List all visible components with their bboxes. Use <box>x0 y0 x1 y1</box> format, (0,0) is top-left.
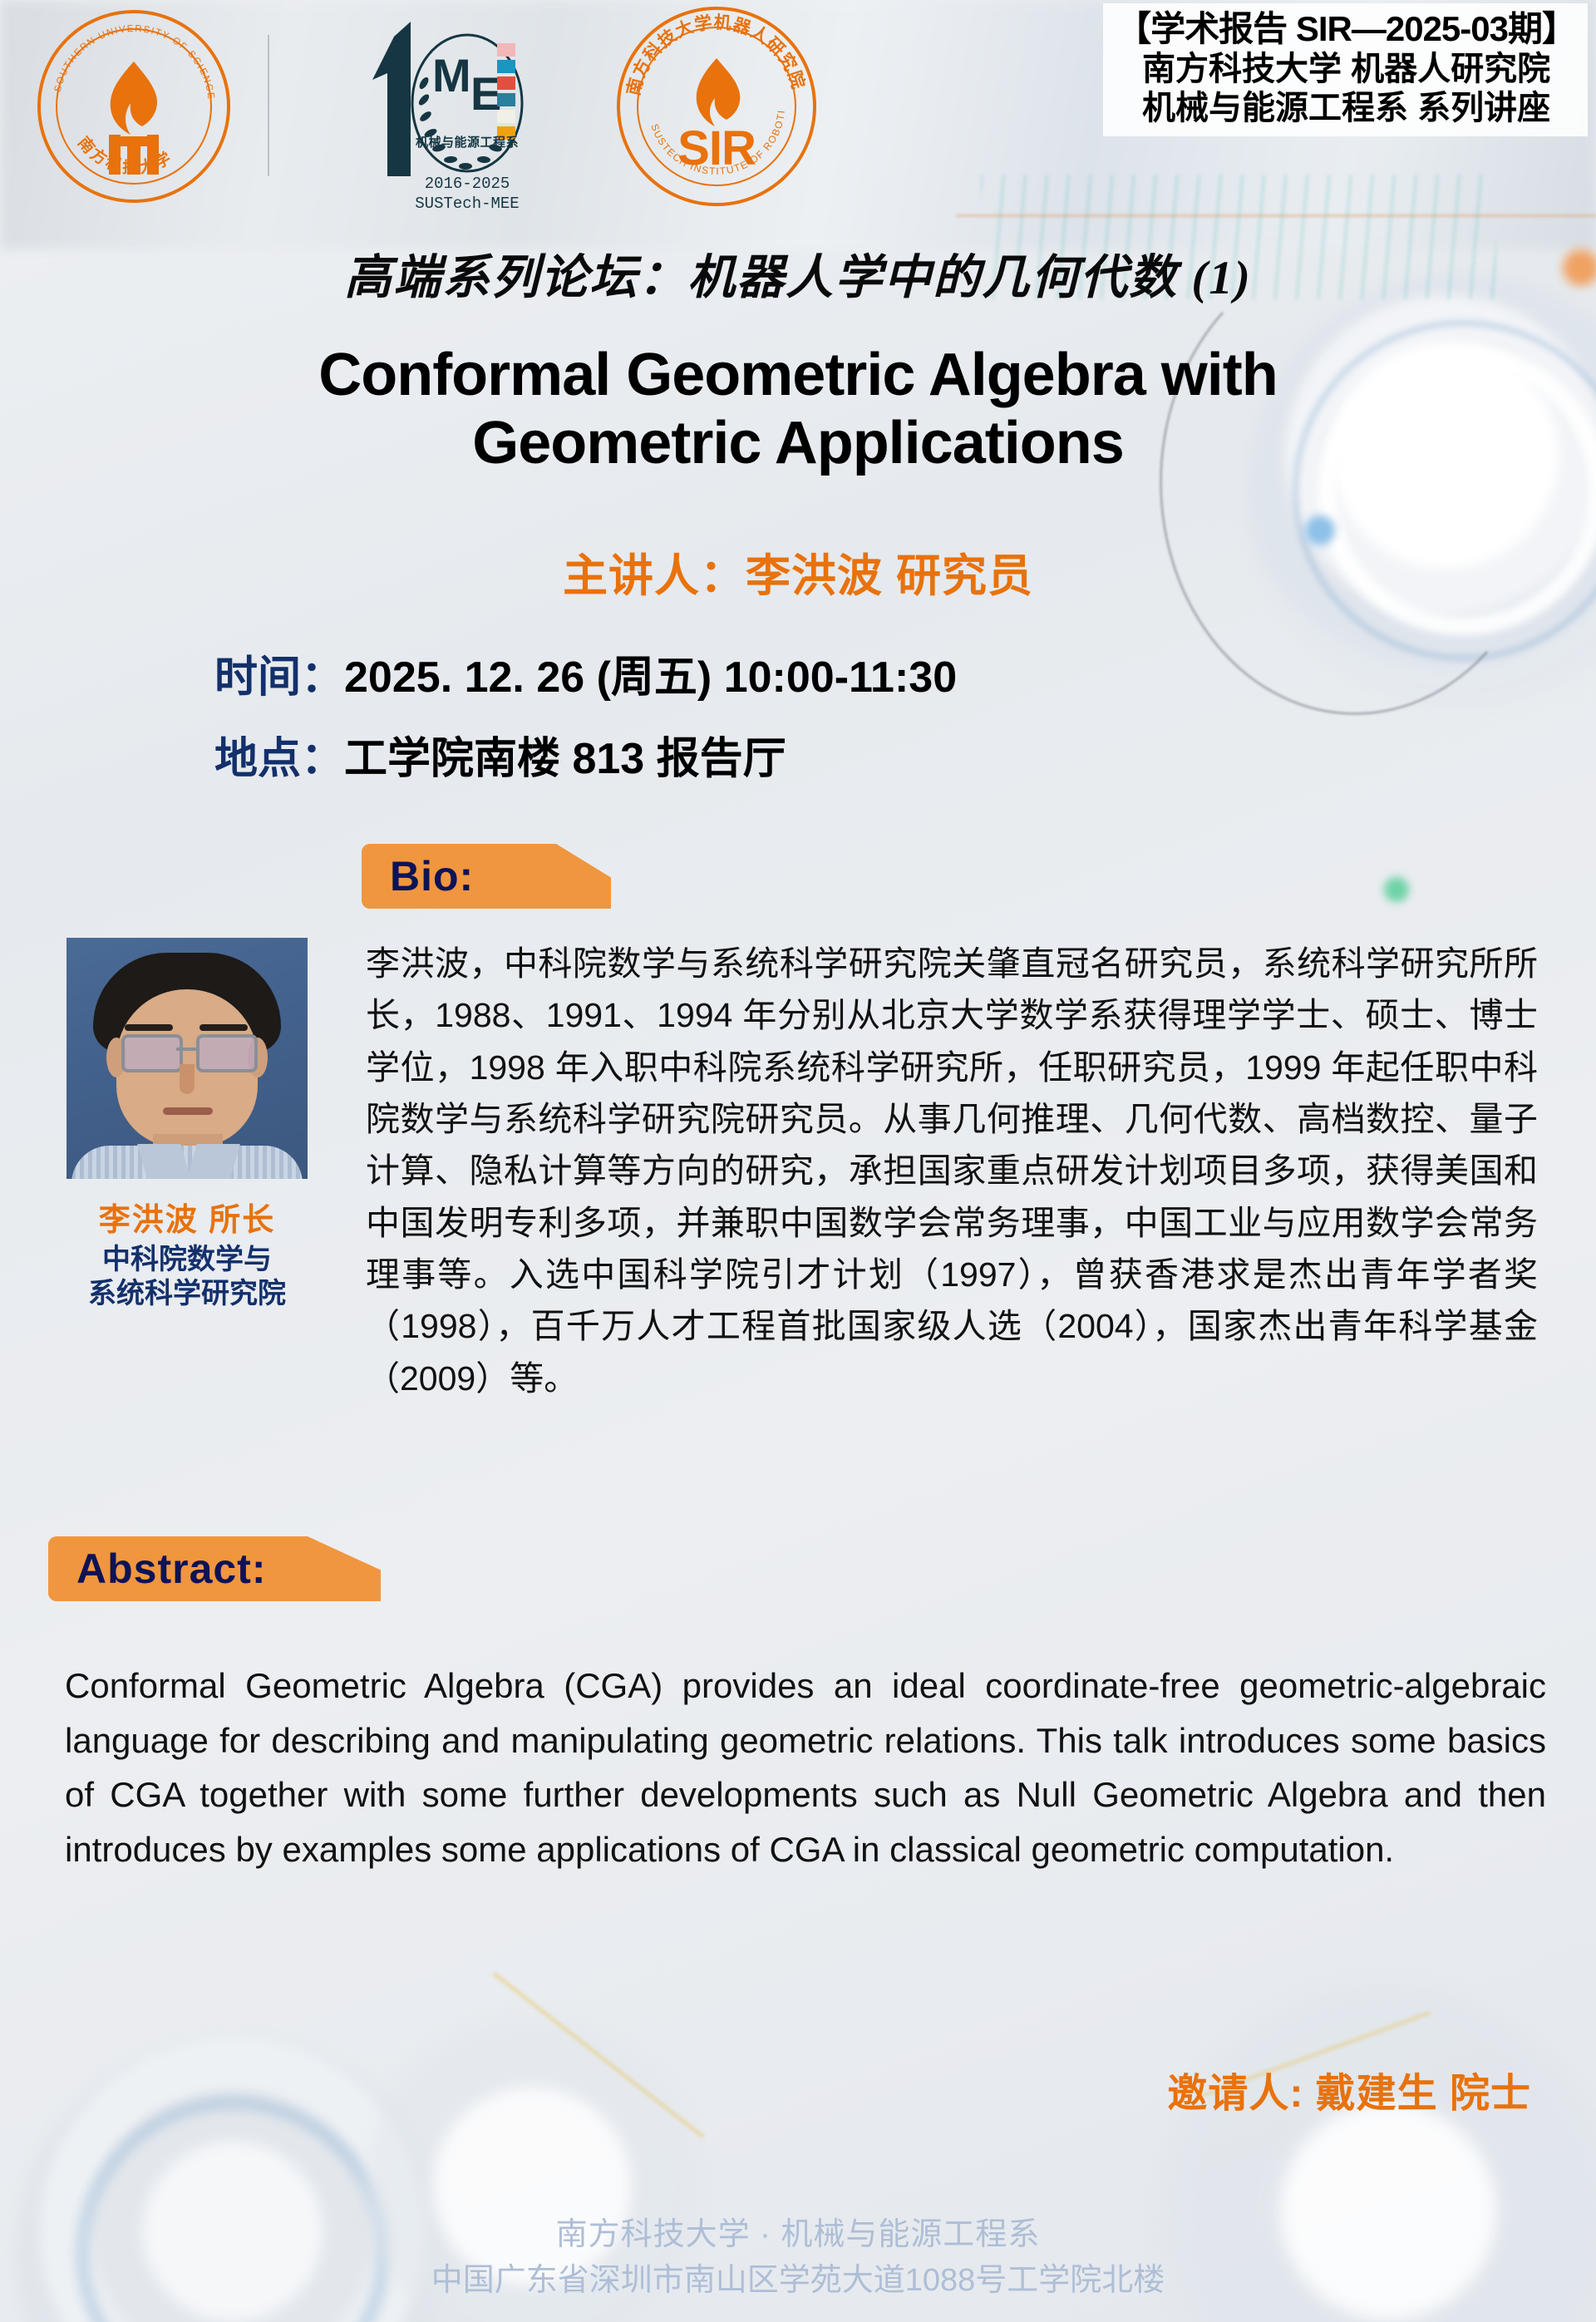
svg-text:2016-2025: 2016-2025 <box>425 175 510 193</box>
logo-divider <box>268 35 269 176</box>
header-line-2: 南方科技大学 机器人研究院 <box>1116 50 1576 89</box>
background-gear-right <box>1247 274 1596 707</box>
sustech-seal-logo: SOUTHERN UNIVERSITY OF SCIENCE AND TECHN… <box>37 10 230 203</box>
time-value: 2025. 12. 26 (周五) 10:00-11:30 <box>344 653 957 702</box>
photo-caption-name: 李洪波 所长 <box>66 1194 308 1240</box>
speaker-portrait <box>66 938 308 1179</box>
series-title-cn: 高端系列论坛：机器人学中的几何代数 (1) <box>0 239 1596 308</box>
sir-seal-logo: 南方科技大学机器人研究院 SUSTECH INSTITUTE OF ROBOTI… <box>617 7 816 206</box>
portrait-glasses-bridge <box>176 1048 196 1051</box>
place-label: 地点： <box>214 735 344 783</box>
time-row: 时间：2025. 12. 26 (周五) 10:00-11:30 <box>214 642 957 704</box>
photo-caption-org: 中科院数学与 系统科学研究院 <box>66 1243 308 1311</box>
svg-text:E: E <box>470 67 501 120</box>
inviter-line: 邀请人: 戴建生 院士 <box>1167 2060 1531 2118</box>
background-trace-line <box>956 214 1596 217</box>
footer: 南方科技大学 · 机械与能源工程系 中国广东省深圳市南山区学苑大道1088号工学… <box>0 2212 1596 2304</box>
speaker-line: 主讲人：李洪波 研究员 <box>0 539 1596 604</box>
portrait-glasses-left <box>121 1034 183 1072</box>
abstract-section-tag: Abstract: <box>48 1536 381 1601</box>
background-gear-arc-right <box>1160 249 1550 715</box>
abstract-tag-label: Abstract: <box>48 1545 266 1593</box>
portrait-glasses-right <box>196 1034 258 1072</box>
place-row: 地点：工学院南楼 813 报告厅 <box>214 723 786 786</box>
poster-root: SOUTHERN UNIVERSITY OF SCIENCE AND TECHN… <box>0 0 1596 2322</box>
svg-text:SIR: SIR <box>677 121 756 175</box>
portrait-brow-left <box>125 1024 173 1031</box>
bio-section-tag: Bio: <box>362 844 611 909</box>
speaker-photo-block: 李洪波 所长 中科院数学与 系统科学研究院 <box>66 938 308 1311</box>
background-yellow-stroke <box>493 1972 705 2138</box>
abstract-body-text: Conformal Geometric Algebra (CGA) provid… <box>65 1659 1546 1876</box>
footer-line-1: 南方科技大学 · 机械与能源工程系 <box>0 2212 1596 2258</box>
talk-title-line-1: Conformal Geometric Algebra with <box>100 341 1496 409</box>
svg-text:M: M <box>432 49 471 101</box>
header-line-3: 机械与能源工程系 系列讲座 <box>1116 89 1576 128</box>
header-banner: 【学术报告 SIR—2025-03期】 南方科技大学 机器人研究院 机械与能源工… <box>1103 3 1588 136</box>
accent-dot-green <box>1384 877 1409 902</box>
time-label: 时间： <box>214 653 344 702</box>
photo-caption-org-line-2: 系统科学研究院 <box>66 1277 308 1311</box>
header-line-1: 【学术报告 SIR—2025-03期】 <box>1116 8 1576 50</box>
svg-text:机械与能源工程系: 机械与能源工程系 <box>416 135 519 150</box>
svg-text:SUSTech-MEE: SUSTech-MEE <box>415 195 519 211</box>
photo-caption-org-line-1: 中科院数学与 <box>66 1243 308 1277</box>
logo-bar: SOUTHERN UNIVERSITY OF SCIENCE AND TECHN… <box>0 0 1596 214</box>
talk-title-en: Conformal Geometric Algebra with Geometr… <box>100 341 1496 477</box>
bio-tag-label: Bio: <box>362 852 474 900</box>
place-value: 工学院南楼 813 报告厅 <box>344 735 786 783</box>
mee-anniversary-logo: M E 机械与能源工程系 2016-2025 SUSTech-MEE <box>308 3 549 211</box>
portrait-mouth <box>163 1107 213 1115</box>
footer-line-2: 中国广东省深圳市南山区学苑大道1088号工学院北楼 <box>0 2258 1596 2304</box>
bio-body-text: 李洪波，中科院数学与系统科学研究院关肇直冠名研究员，系统科学研究所所长，1988… <box>366 938 1538 1404</box>
talk-title-line-2: Geometric Applications <box>100 409 1496 477</box>
portrait-brow-right <box>199 1024 248 1031</box>
portrait-nose <box>180 1064 195 1094</box>
